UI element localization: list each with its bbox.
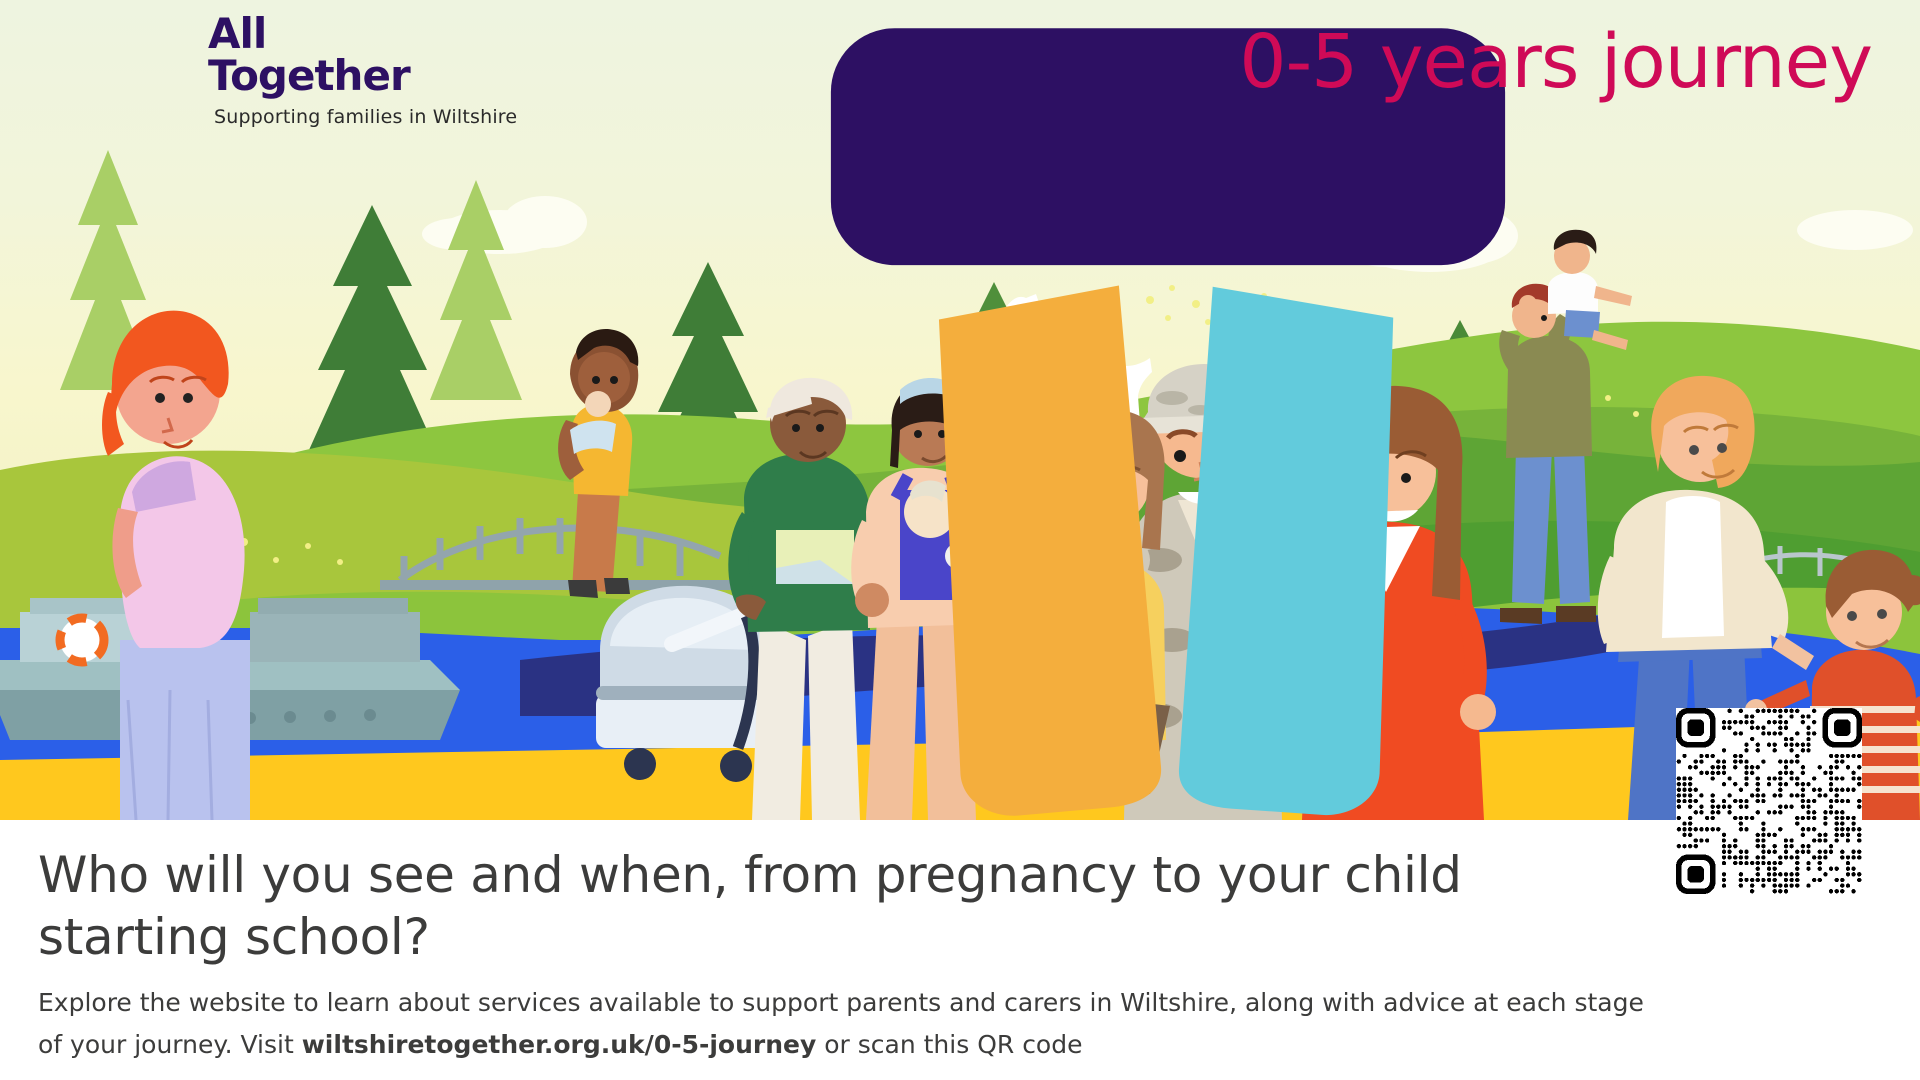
poster-root: All Together Supporting families in Wilt…	[0, 0, 1920, 1080]
footer-body-after: or scan this QR code	[816, 1030, 1082, 1059]
page-title: 0-5 years journey	[1239, 22, 1872, 102]
stonehenge-trilithon-icon	[208, 10, 1920, 820]
website-url[interactable]: wiltshiretogether.org.uk/0-5-journey	[302, 1030, 817, 1059]
hero-illustration: All Together Supporting families in Wilt…	[0, 0, 1920, 820]
footer-body: Explore the website to learn about servi…	[38, 982, 1658, 1066]
footer-text-block: Who will you see and when, from pregnanc…	[38, 844, 1658, 1066]
brand-logo[interactable]: All Together Supporting families in Wilt…	[208, 10, 528, 128]
footer-headline: Who will you see and when, from pregnanc…	[38, 844, 1658, 968]
footer-panel: Who will you see and when, from pregnanc…	[0, 820, 1920, 1080]
